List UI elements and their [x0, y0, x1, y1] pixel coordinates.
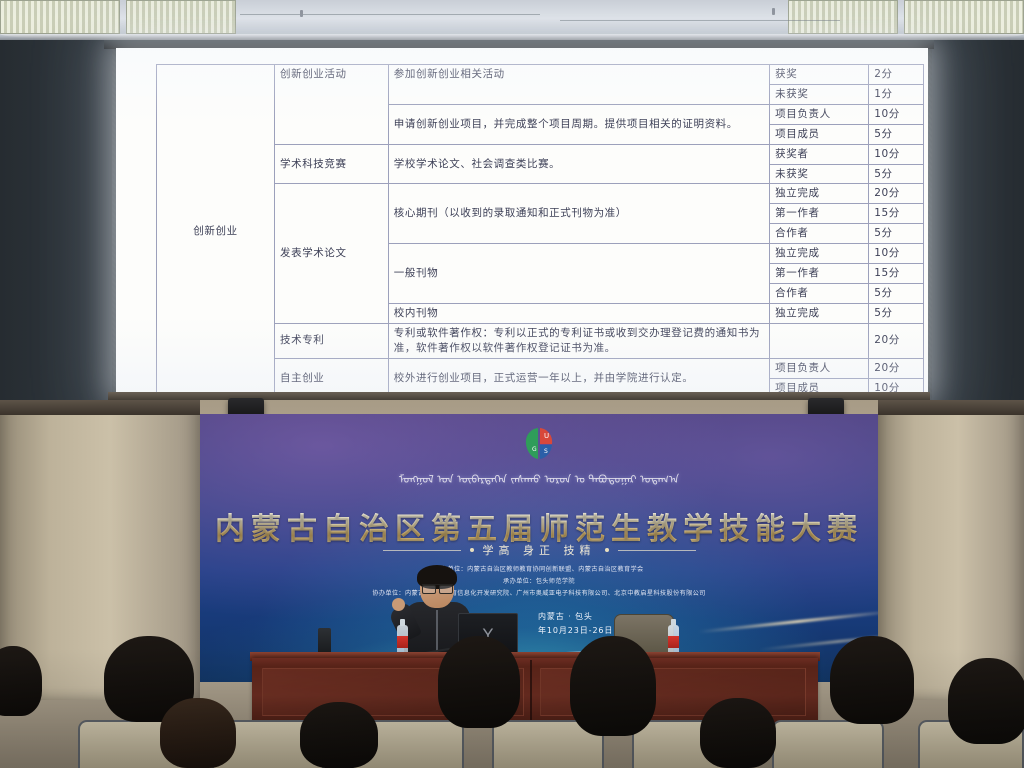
ceiling-light-panel [0, 0, 120, 34]
description-cell: 申请创新创业项目，并完成整个项目周期。提供项目相关的证明资料。 [388, 104, 769, 144]
ceiling-light-panel [126, 0, 236, 34]
svg-text:G: G [532, 446, 537, 453]
points-cell: 15分 [869, 264, 924, 284]
level-cell: 获奖 [770, 65, 869, 85]
level-cell [770, 323, 869, 358]
subcategory-cell: 创新创业活动 [275, 65, 389, 85]
upper-wall-left [0, 40, 112, 408]
points-cell: 10分 [869, 104, 924, 124]
level-cell: 独立完成 [770, 244, 869, 264]
level-cell: 第一作者 [770, 204, 869, 224]
level-cell: 项目成员 [770, 124, 869, 144]
subcategory-cell: 技术专利 [275, 323, 389, 358]
audience-head [700, 698, 776, 768]
banner-mongolian-text: ᠮᠣᠩᠭᠣᠯ ᠤᠨ ᠥᠪᠡᠷᠲᠡᠭᠡᠨ ᠵᠠᠰᠠᠬᠤ ᠣᠷᠣᠨ ᠤ ᠲᠠᠪᠤᠳᠤ… [200, 468, 878, 487]
level-cell: 未获奖 [770, 84, 869, 104]
banner-subtitle: 学高 身正 技精 [483, 542, 596, 558]
pillar-cap-left [0, 400, 200, 415]
projection-screen: 创新创业 创新创业活动 参加创新创业相关活动 获奖 2分 未获奖 1分 [116, 48, 928, 393]
points-cell: 1分 [869, 84, 924, 104]
ceiling-fixture [772, 8, 775, 15]
banner-organizers: 主办单位：内蒙古自治区教师教育协同创新联盟、内蒙古自治区教育学会 承办单位：包头… [200, 564, 878, 600]
banner-subtitle-row: 学高 身正 技精 [200, 542, 878, 558]
desk-divider [530, 660, 532, 724]
pillar-cap-right [878, 400, 1024, 415]
svg-text:U: U [544, 432, 549, 440]
audience-head [830, 636, 914, 724]
subtitle-dot-right [605, 548, 609, 552]
organizer-line: 主办单位：内蒙古自治区教师教育协同创新联盟、内蒙古自治区教育学会 [200, 564, 878, 576]
level-cell: 合作者 [770, 224, 869, 244]
banner-location: 内蒙古 · 包头 [538, 610, 613, 624]
audience-head [160, 698, 236, 768]
banner-location-block: 内蒙古 · 包头 年10月23日-26日 [538, 610, 613, 638]
points-cell: 20分 [869, 184, 924, 204]
audience-head [948, 658, 1024, 744]
description-cell: 专利或软件著作权：专利以正式的专利证书或收到交办理登记费的通知书为准，软件著作权… [388, 323, 769, 358]
slide-content: 创新创业 创新创业活动 参加创新创业相关活动 获奖 2分 未获奖 1分 [116, 48, 928, 393]
upper-wall-right [932, 40, 1024, 408]
stage-banner: U G S ᠮᠣᠩᠭᠣᠯ ᠤᠨ ᠥᠪᠡᠷᠲᠡᠭᠡᠨ ᠵᠠᠰᠠᠬᠤ ᠣᠷᠣᠨ ᠤ … [200, 414, 878, 682]
ceiling-fixture [300, 10, 303, 17]
ceiling-light-panel [788, 0, 898, 34]
audience-head [570, 636, 656, 736]
description-cell: 校内刊物 [388, 303, 769, 323]
points-cell: 2分 [869, 65, 924, 85]
banner-date: 年10月23日-26日 [538, 624, 613, 638]
presenter-hand [392, 598, 405, 611]
organizer-line: 协办单位：内蒙古自治区教育信息化开发研究院、广州市奥威亚电子科技有限公司、北京中… [200, 588, 878, 600]
subcategory-cell: 发表学术论文 [275, 184, 389, 323]
ceiling-light-panel [904, 0, 1024, 34]
points-cell: 15分 [869, 204, 924, 224]
points-cell: 5分 [869, 283, 924, 303]
subcategory-cell [275, 124, 389, 144]
points-cell: 5分 [869, 164, 924, 184]
subtitle-rule-right [618, 550, 696, 551]
points-cell: 10分 [869, 244, 924, 264]
subcategory-cell [275, 104, 389, 124]
points-cell: 5分 [869, 224, 924, 244]
points-cell: 20分 [869, 323, 924, 358]
ceiling-seam [560, 20, 840, 21]
level-cell: 获奖者 [770, 144, 869, 164]
description-cell: 参加创新创业相关活动 [388, 65, 769, 85]
category-cell: 创新创业 [157, 65, 275, 398]
level-cell: 项目负责人 [770, 358, 869, 378]
scoring-table: 创新创业 创新创业活动 参加创新创业相关活动 获奖 2分 未获奖 1分 [156, 64, 924, 398]
svg-text:S: S [544, 448, 548, 455]
points-cell: 20分 [869, 358, 924, 378]
level-cell: 未获奖 [770, 164, 869, 184]
ceiling-seam [240, 14, 540, 15]
description-cell: 学校学术论文、社会调查类比赛。 [388, 144, 769, 184]
points-cell: 10分 [869, 144, 924, 164]
description-cell [388, 84, 769, 104]
points-cell: 5分 [869, 303, 924, 323]
competition-emblem-icon: U G S [516, 423, 562, 463]
description-cell: 核心期刊（以收到的录取通知和正式刊物为准） [388, 184, 769, 244]
lecture-hall-scene: 创新创业 创新创业活动 参加创新创业相关活动 获奖 2分 未获奖 1分 [0, 0, 1024, 768]
subtitle-dot-left [470, 548, 474, 552]
audience-head [300, 702, 378, 768]
audience-head [438, 636, 520, 728]
subcategory-cell: 学术科技竞赛 [275, 144, 389, 184]
table-row: 创新创业 创新创业活动 参加创新创业相关活动 获奖 2分 [157, 65, 924, 85]
audience-chair [772, 720, 884, 768]
glasses-icon [422, 584, 453, 591]
points-cell: 5分 [869, 124, 924, 144]
level-cell: 项目负责人 [770, 104, 869, 124]
level-cell: 独立完成 [770, 184, 869, 204]
level-cell: 第一作者 [770, 264, 869, 284]
level-cell: 独立完成 [770, 303, 869, 323]
description-cell: 一般刊物 [388, 244, 769, 304]
level-cell: 合作者 [770, 283, 869, 303]
subcategory-cell [275, 84, 389, 104]
subtitle-rule-left [383, 550, 461, 551]
organizer-line: 承办单位：包头师范学院 [200, 576, 878, 588]
